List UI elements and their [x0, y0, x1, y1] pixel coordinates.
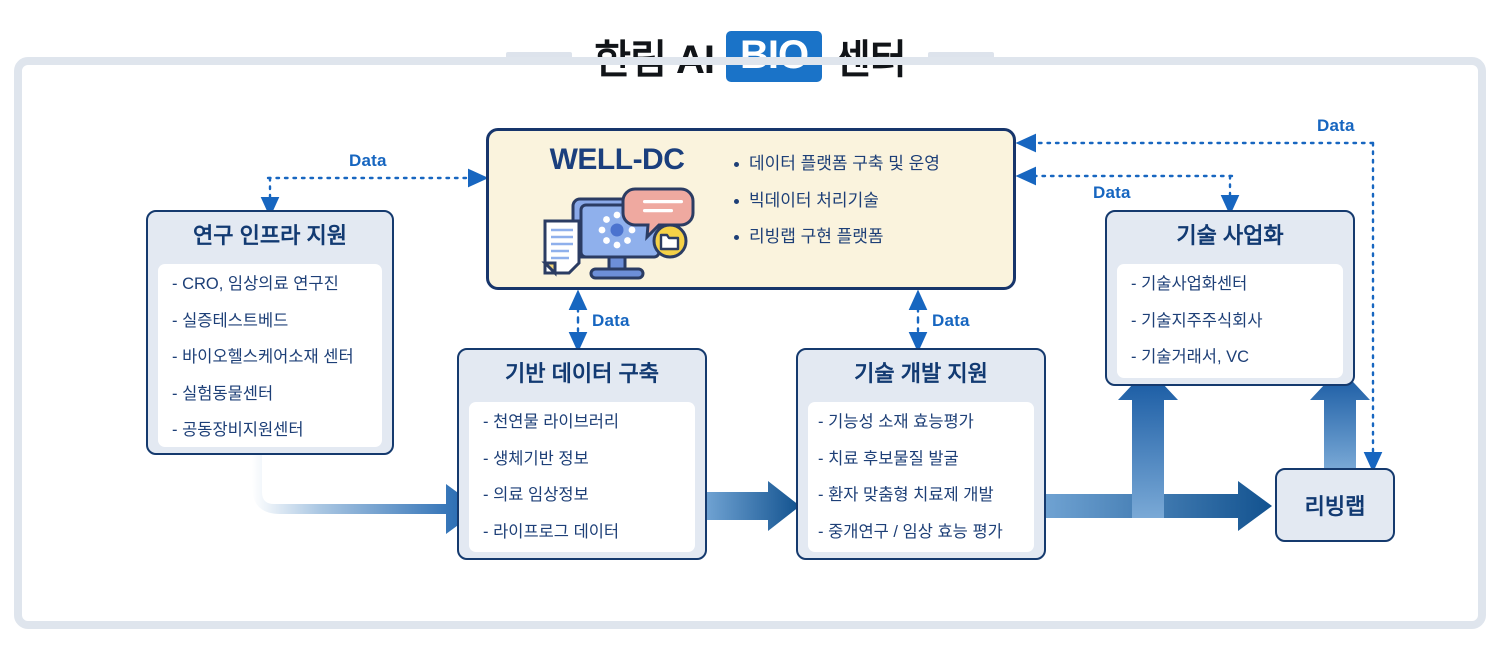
card-living-lab[interactable]: 리빙랩: [1275, 468, 1395, 542]
list-item: - 바이오헬스케어소재 센터: [172, 349, 370, 366]
card-research-infra[interactable]: 연구 인프라 지원 - CRO, 임상의료 연구진 - 실증테스트베드 - 바이…: [146, 210, 394, 455]
list-item: - 천연물 라이브러리: [483, 414, 683, 431]
list-item: - 실증테스트베드: [172, 313, 370, 330]
list-item: - 생체기반 정보: [483, 451, 683, 468]
card-body-base-data: - 천연물 라이브러리 - 생체기반 정보 - 의료 임상정보 - 라이프로그 …: [469, 402, 695, 552]
welldc-bullet-item: 데이터 플랫폼 구축 및 운영: [734, 155, 1004, 174]
list-item: - 환자 맞춤형 치료제 개발: [818, 487, 1022, 504]
welldc-bullet-text: 빅데이터 처리기술: [749, 192, 879, 211]
data-label-infra-welldc: Data: [349, 151, 387, 171]
bullet-dot-icon: [734, 162, 739, 167]
card-body-commercialization: - 기술사업화센터 - 기술지주주식회사 - 기술거래서, VC: [1117, 264, 1343, 378]
list-item: - 기술사업화센터: [1131, 276, 1331, 293]
card-title-commercialization: 기술 사업화: [1107, 212, 1353, 248]
list-item: - 의료 임상정보: [483, 487, 683, 504]
card-title-tech-development: 기술 개발 지원: [798, 350, 1044, 386]
card-title-base-data: 기반 데이터 구축: [459, 350, 705, 386]
computer-data-illustration-icon: [539, 183, 699, 283]
welldc-bullet-list: 데이터 플랫폼 구축 및 운영 빅데이터 처리기술 리빙랩 구현 플랫폼: [734, 155, 1004, 247]
data-label-livinglab-welldc: Data: [1317, 116, 1355, 136]
list-item: - 중개연구 / 임상 효능 평가: [818, 524, 1022, 541]
list-item: - 기능성 소재 효능평가: [818, 414, 1022, 431]
welldc-bullet-item: 리빙랩 구현 플랫폼: [734, 228, 1004, 247]
card-title-living-lab: 리빙랩: [1305, 489, 1366, 521]
welldc-bullet-item: 빅데이터 처리기술: [734, 192, 1004, 211]
bullet-dot-icon: [734, 199, 739, 204]
card-commercialization[interactable]: 기술 사업화 - 기술사업화센터 - 기술지주주식회사 - 기술거래서, VC: [1105, 210, 1355, 386]
welldc-title: WELL-DC: [527, 143, 707, 177]
list-item: - 공동장비지원센터: [172, 422, 370, 439]
list-item: - 실험동물센터: [172, 386, 370, 403]
list-item: - 치료 후보물질 발굴: [818, 451, 1022, 468]
welldc-bullet-text: 데이터 플랫폼 구축 및 운영: [749, 155, 940, 174]
card-body-tech-development: - 기능성 소재 효능평가 - 치료 후보물질 발굴 - 환자 맞춤형 치료제 …: [808, 402, 1034, 552]
list-item: - 기술거래서, VC: [1131, 349, 1331, 366]
card-body-research-infra: - CRO, 임상의료 연구진 - 실증테스트베드 - 바이오헬스케어소재 센터…: [158, 264, 382, 447]
diagram-canvas: 한림 AI BIO 센터: [0, 0, 1500, 648]
card-tech-development[interactable]: 기술 개발 지원 - 기능성 소재 효능평가 - 치료 후보물질 발굴 - 환자…: [796, 348, 1046, 560]
card-base-data[interactable]: 기반 데이터 구축 - 천연물 라이브러리 - 생체기반 정보 - 의료 임상정…: [457, 348, 707, 560]
card-title-research-infra: 연구 인프라 지원: [148, 212, 392, 248]
welldc-card[interactable]: WELL-DC: [486, 128, 1016, 290]
data-label-welldc-basedata: Data: [592, 311, 630, 331]
list-item: - CRO, 임상의료 연구진: [172, 276, 370, 293]
data-label-welldc-techdev: Data: [932, 311, 970, 331]
data-label-commercial-welldc: Data: [1093, 183, 1131, 203]
list-item: - 라이프로그 데이터: [483, 524, 683, 541]
list-item: - 기술지주주식회사: [1131, 313, 1331, 330]
bullet-dot-icon: [734, 235, 739, 240]
welldc-bullet-text: 리빙랩 구현 플랫폼: [749, 228, 884, 247]
